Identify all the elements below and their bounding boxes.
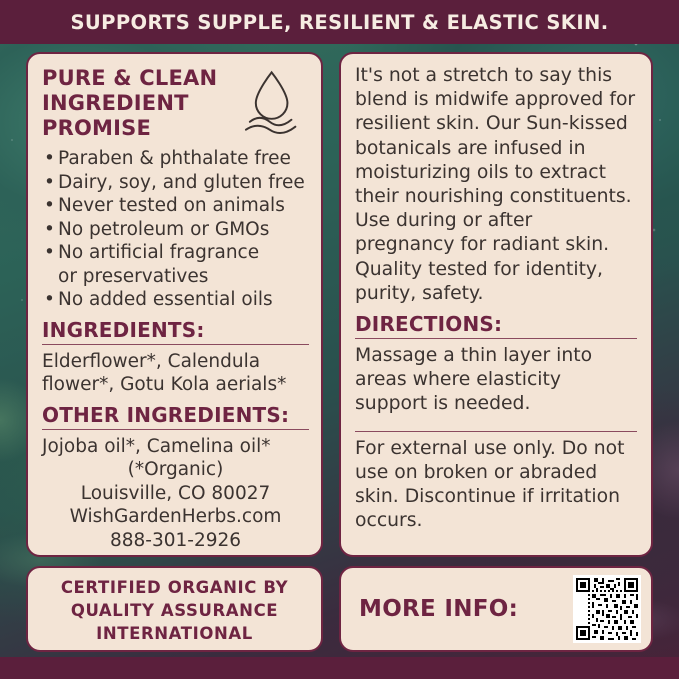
warning-text: For external use only. Do not use on bro…: [355, 437, 637, 534]
certification-line1: CERTIFIED ORGANIC BY: [28, 576, 321, 599]
divider: [42, 429, 309, 430]
list-item-continued: or preservatives: [42, 265, 309, 289]
top-banner: SUPPORTS SUPPLE, RESILIENT & ELASTIC SKI…: [0, 0, 679, 44]
more-info-row: MORE INFO:: [341, 568, 651, 650]
promise-title: PURE & CLEAN INGREDIENT PROMISE: [42, 62, 240, 141]
list-item: Dairy, soy, and gluten free: [42, 171, 309, 195]
company-phone[interactable]: 888-301-2926: [42, 529, 309, 553]
directions-text: Massage a thin layer into areas where el…: [355, 344, 637, 417]
organic-note: (*Organic): [42, 458, 309, 482]
promise-title-line1: PURE & CLEAN: [42, 66, 240, 91]
product-description: It's not a stretch to say this blend is …: [355, 64, 637, 306]
description-panel: It's not a stretch to say this blend is …: [339, 52, 653, 557]
list-item: Never tested on animals: [42, 194, 309, 218]
qr-code-icon[interactable]: [573, 575, 641, 643]
promise-bullet-list: Paraben & phthalate free Dairy, soy, and…: [42, 147, 309, 312]
list-item: No artificial fragrance: [42, 241, 309, 265]
other-ingredients-heading: OTHER INGREDIENTS:: [42, 403, 309, 427]
list-item: Paraben & phthalate free: [42, 147, 309, 171]
certification-line2: QUALITY ASSURANCE: [28, 599, 321, 622]
directions-heading: DIRECTIONS:: [355, 312, 637, 336]
divider: [42, 344, 309, 345]
divider: [355, 431, 637, 432]
list-item: No added essential oils: [42, 288, 309, 312]
list-item: No petroleum or GMOs: [42, 218, 309, 242]
certification-line3: INTERNATIONAL: [28, 622, 321, 645]
promise-title-line3: PROMISE: [42, 116, 240, 141]
certification-panel: CERTIFIED ORGANIC BY QUALITY ASSURANCE I…: [26, 566, 323, 652]
bottom-banner: [0, 657, 679, 679]
water-drop-icon: [240, 66, 303, 138]
promise-title-line2: INGREDIENT: [42, 91, 240, 116]
promise-header: PURE & CLEAN INGREDIENT PROMISE: [42, 62, 309, 141]
divider: [355, 338, 637, 339]
more-info-label: MORE INFO:: [359, 596, 518, 622]
product-label: SUPPORTS SUPPLE, RESILIENT & ELASTIC SKI…: [0, 0, 679, 679]
ingredients-text: Elderflower*, Calendula flower*, Gotu Ko…: [42, 350, 309, 397]
ingredient-promise-panel: PURE & CLEAN INGREDIENT PROMISE Paraben …: [26, 52, 323, 557]
more-info-panel: MORE INFO:: [339, 566, 653, 652]
company-address: Louisville, CO 80027: [42, 482, 309, 506]
other-ingredients-text: Jojoba oil*, Camelina oil*: [42, 435, 309, 459]
certification-text: CERTIFIED ORGANIC BY QUALITY ASSURANCE I…: [28, 568, 321, 645]
company-website[interactable]: WishGardenHerbs.com: [42, 505, 309, 529]
ingredients-heading: INGREDIENTS:: [42, 318, 309, 342]
banner-text: SUPPORTS SUPPLE, RESILIENT & ELASTIC SKI…: [70, 11, 608, 34]
